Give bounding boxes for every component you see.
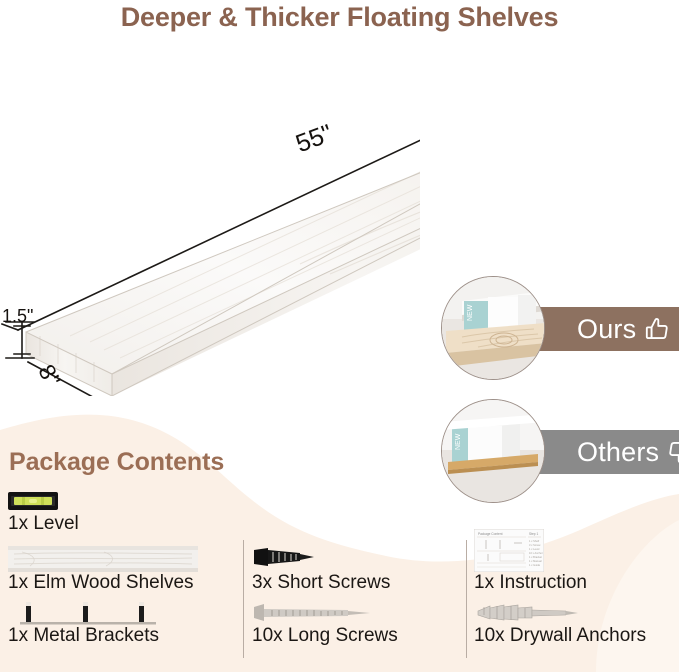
svg-text:3 x Screw: 3 x Screw — [529, 543, 541, 547]
comparison-photo-others: NEW — [441, 399, 545, 503]
svg-text:1 x Bracket: 1 x Bracket — [529, 555, 542, 559]
svg-text:NEW: NEW — [467, 304, 474, 321]
comparison-label-others: Others — [577, 437, 659, 468]
spirit-level-icon — [8, 492, 58, 510]
page-title: Deeper & Thicker Floating Shelves — [0, 2, 679, 33]
column-divider-1 — [243, 540, 244, 658]
comparison-photo-ours: NEW — [441, 276, 545, 380]
svg-text:1 x Shelf: 1 x Shelf — [529, 539, 539, 543]
package-contents-heading: Package Contents — [9, 448, 224, 477]
package-label-long-screws: 10x Long Screws — [252, 625, 398, 647]
instruction-sheet-icon: Package Content Step 1 — [474, 529, 544, 572]
package-label-short-screws: 3x Short Screws — [252, 572, 390, 594]
wood-plank-icon — [8, 546, 198, 572]
package-label-instruction: 1x Instruction — [474, 572, 587, 594]
svg-text:Step 1: Step 1 — [529, 532, 538, 536]
package-label-elm-wood-shelves: 1x Elm Wood Shelves — [8, 572, 194, 594]
comparison-label-ours: Ours — [577, 314, 636, 345]
product-infographic: Deeper & Thicker Floating Shelves — [0, 0, 679, 672]
drywall-anchor-icon — [474, 602, 584, 624]
svg-text:10 x Anchor: 10 x Anchor — [529, 551, 543, 555]
long-screw-icon — [252, 602, 382, 624]
package-label-drywall-anchors: 10x Drywall Anchors — [474, 625, 646, 647]
metal-bracket-icon — [8, 600, 168, 626]
svg-text:1 x Guide: 1 x Guide — [529, 563, 541, 567]
dimension-thickness-label: 1.5" — [2, 306, 33, 327]
short-screw-icon — [252, 546, 322, 568]
column-divider-2 — [466, 540, 467, 658]
package-label-metal-brackets: 1x Metal Brackets — [8, 625, 159, 647]
floating-shelf-illustration — [0, 36, 420, 396]
svg-text:1 x Level: 1 x Level — [529, 547, 540, 551]
thumbs-down-icon — [667, 439, 679, 465]
svg-text:Package Content: Package Content — [478, 532, 503, 536]
svg-text:1 x Manual: 1 x Manual — [529, 559, 542, 563]
svg-text:NEW: NEW — [455, 433, 462, 450]
package-label-level: 1x Level — [8, 513, 79, 535]
thumbs-up-icon — [644, 316, 670, 342]
